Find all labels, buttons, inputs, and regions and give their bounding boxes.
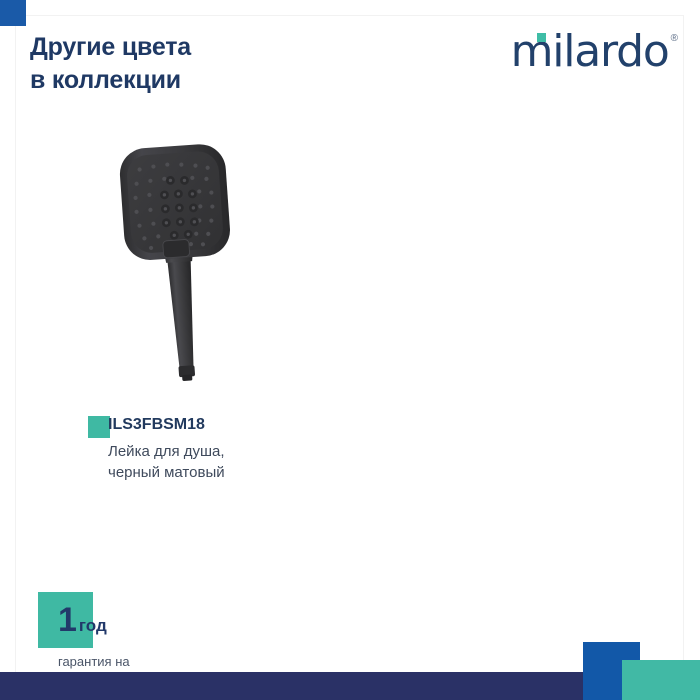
page-title: Другие цвета в коллекции <box>30 31 330 97</box>
brand-logo: milardo ® <box>511 30 678 78</box>
page-title-line-1: Другие цвета <box>30 31 330 64</box>
product-label: ILS3FBSM18 Лейка для душа, черный матовы… <box>88 414 388 484</box>
product-description-line-1: Лейка для душа, <box>108 441 388 462</box>
warranty-caption-line-1: гарантия на <box>58 653 198 672</box>
page-title-line-2: в коллекции <box>30 64 330 97</box>
decor-navy-bar <box>0 672 622 700</box>
color-swatch[interactable] <box>88 416 110 438</box>
brand-wordmark: milardo <box>511 30 669 74</box>
warranty-value-row: 1 год <box>38 592 198 648</box>
product-card: Другие цвета в коллекции milardo ® <box>0 0 700 700</box>
product-image-shower-head <box>104 140 254 390</box>
warranty-unit: год <box>79 617 107 634</box>
shower-head-illustration <box>104 140 254 390</box>
logo-i-dot-square <box>537 33 546 42</box>
product-description-line-2: черный матовый <box>108 462 388 483</box>
decor-teal-square <box>622 660 700 700</box>
corner-accent-square <box>0 0 26 26</box>
registered-trademark-symbol: ® <box>671 34 678 44</box>
warranty-number: 1 <box>58 603 77 637</box>
product-description: Лейка для душа, черный матовый <box>108 441 388 484</box>
product-sku: ILS3FBSM18 <box>108 414 388 436</box>
